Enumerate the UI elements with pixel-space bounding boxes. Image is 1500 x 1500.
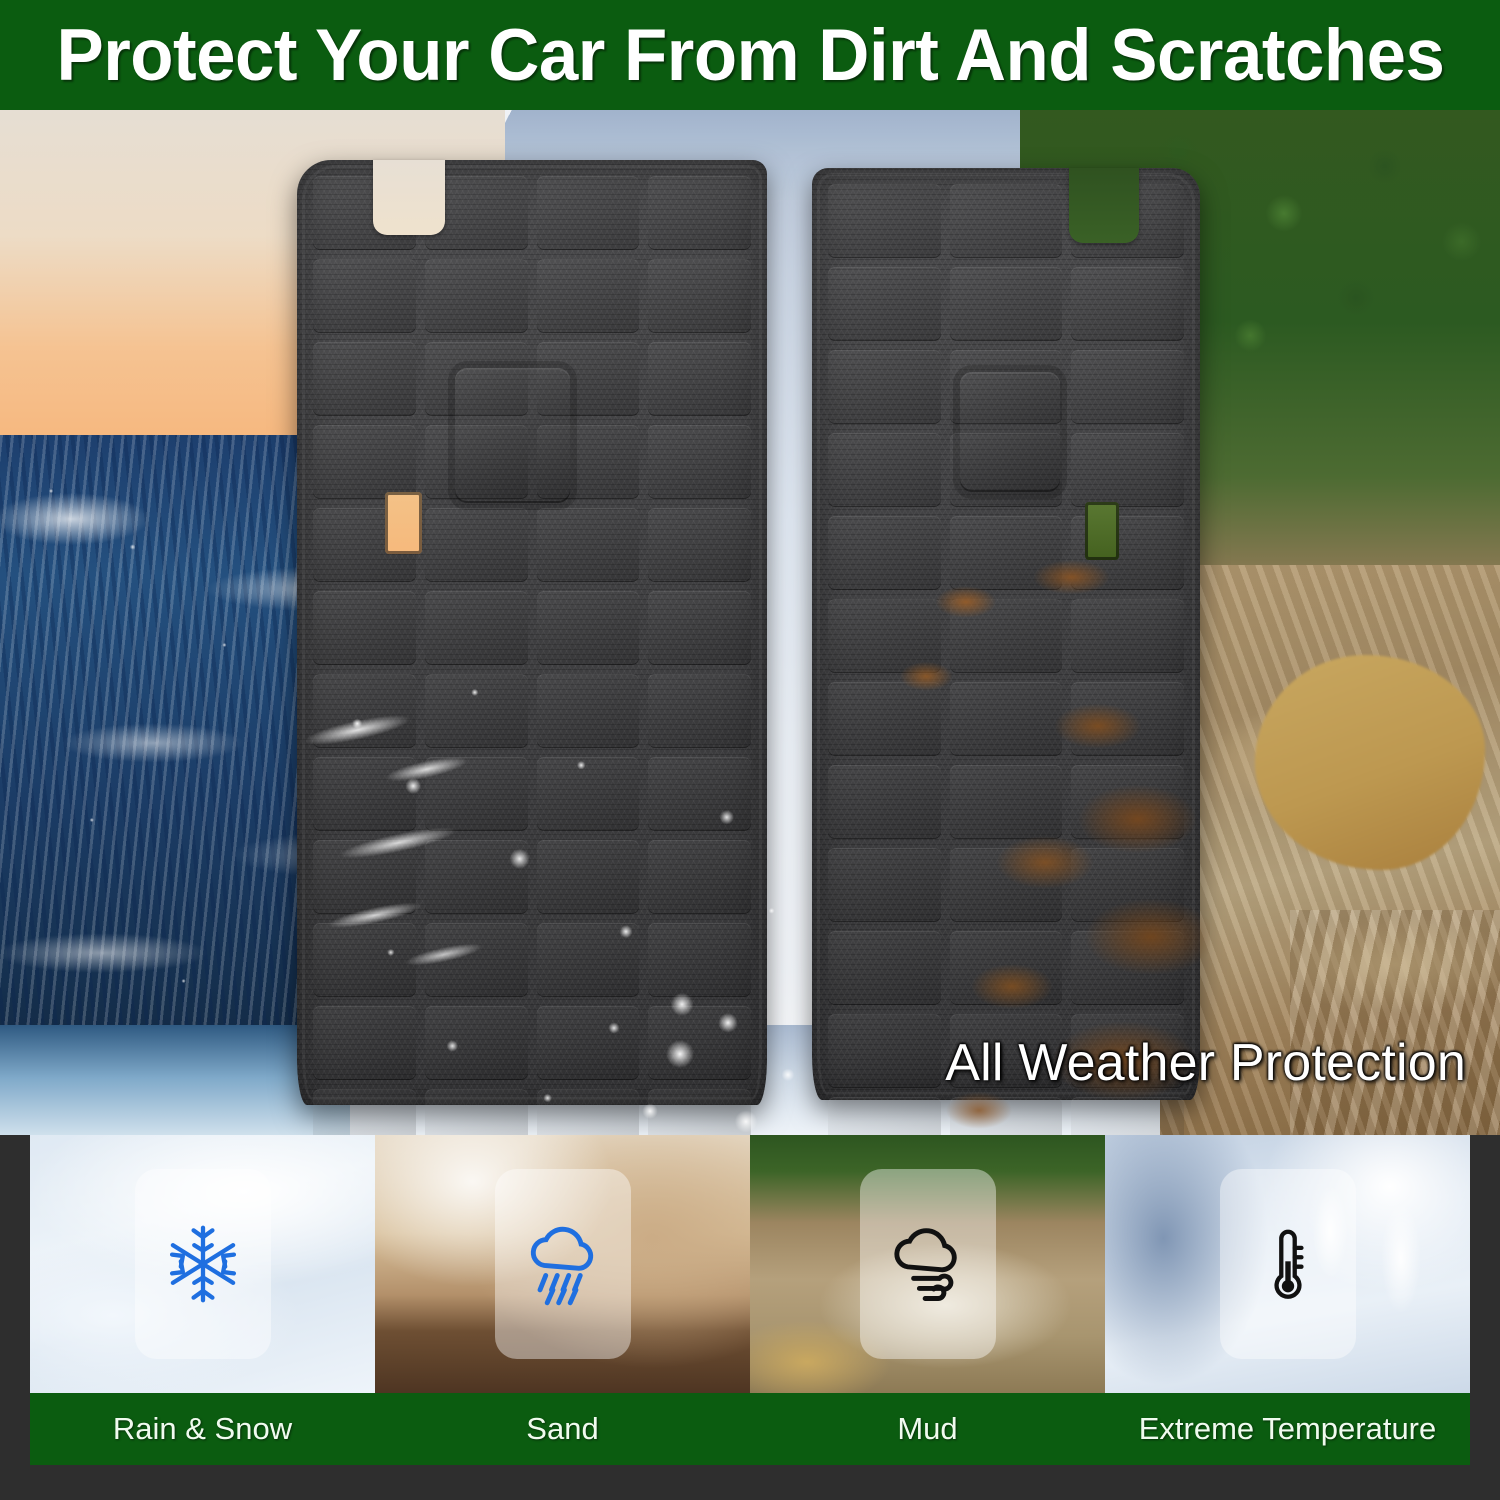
icon-tile-sand	[495, 1169, 631, 1359]
feature-strip: Rain & Snow	[30, 1135, 1470, 1465]
header-banner: Protect Your Car From Dirt And Scratches	[0, 0, 1500, 110]
icon-tile-extreme-temperature	[1220, 1169, 1356, 1359]
product-banner: Protect Your Car From Dirt And Scratches	[0, 0, 1500, 1500]
feature-photo-mud	[750, 1135, 1105, 1393]
mat-raised-panel-left	[455, 368, 570, 503]
feature-photo-snow	[30, 1135, 375, 1393]
wind-cloud-icon	[882, 1218, 974, 1310]
icon-tile-rain-snow	[135, 1169, 271, 1359]
feature-label-rain-snow: Rain & Snow	[30, 1393, 375, 1465]
rain-cloud-icon	[517, 1218, 609, 1310]
feature-label-mud: Mud	[750, 1393, 1105, 1465]
mat-slot-left	[385, 492, 422, 554]
feature-card-mud[interactable]: Mud	[750, 1135, 1105, 1465]
mat-notch-left	[373, 160, 445, 235]
mat-panel-left	[297, 160, 767, 1105]
feature-card-sand[interactable]: Sand	[375, 1135, 750, 1465]
feature-photo-sand	[375, 1135, 750, 1393]
product-image	[0, 110, 1500, 1135]
icon-tile-mud	[860, 1169, 996, 1359]
mat-texture-grid-right	[828, 184, 1184, 1074]
page-title: Protect Your Car From Dirt And Scratches	[56, 14, 1444, 97]
feature-label-extreme-temperature: Extreme Temperature	[1105, 1393, 1470, 1465]
feature-card-rain-snow[interactable]: Rain & Snow	[30, 1135, 375, 1465]
feature-label-sand: Sand	[375, 1393, 750, 1465]
thermometer-icon	[1245, 1221, 1331, 1307]
hero-section: All Weather Protection	[0, 110, 1500, 1135]
feature-card-extreme-temperature[interactable]: Extreme Temperature	[1105, 1135, 1470, 1465]
mat-panel-right	[812, 168, 1200, 1100]
feature-photo-cold	[1105, 1135, 1470, 1393]
snowflake-icon	[160, 1221, 246, 1307]
mat-raised-panel-right	[960, 372, 1060, 492]
mat-notch-right	[1069, 168, 1139, 243]
mat-texture-grid-left	[313, 176, 751, 1079]
mat-slot-right	[1085, 502, 1119, 560]
hero-caption: All Weather Protection	[945, 1033, 1466, 1093]
